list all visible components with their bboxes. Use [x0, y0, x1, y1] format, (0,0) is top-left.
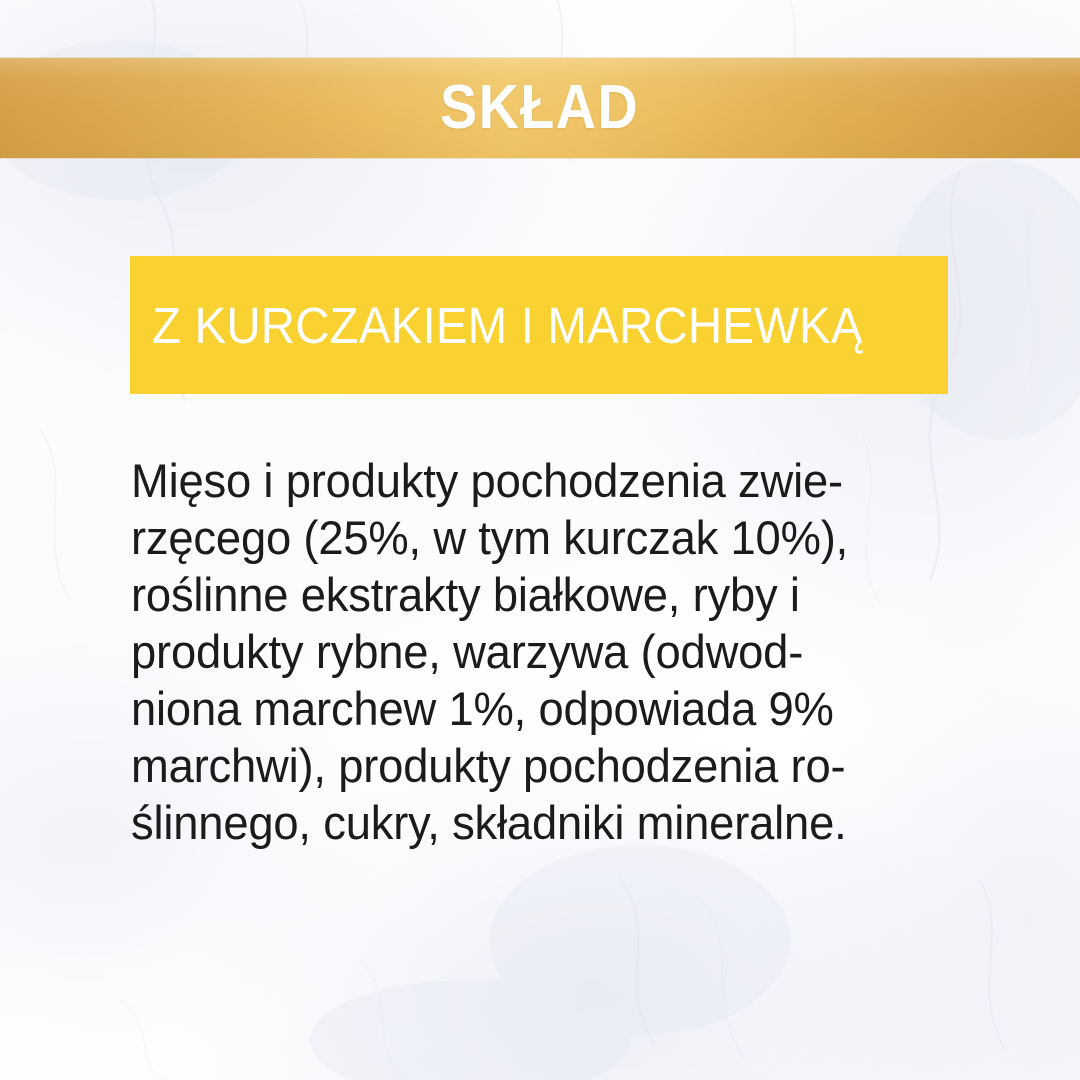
variant-title-label: Z KURCZAKIEM I MARCHEWKĄ — [152, 300, 863, 351]
section-header-banner: SKŁAD — [0, 58, 1080, 158]
ingredients-line: Mięso i produkty pochodzenia zwie- — [131, 452, 932, 509]
ingredients-line: rzęcego (25%, w tym kurczak 10%), — [131, 509, 932, 566]
variant-title-box: Z KURCZAKIEM I MARCHEWKĄ — [130, 256, 948, 394]
page-title: SKŁAD — [441, 77, 640, 139]
ingredients-line: produkty rybne, warzywa (odwod- — [131, 623, 932, 680]
ingredients-line: ślinnego, cukry, składniki mineralne. — [131, 794, 932, 851]
ingredients-line: roślinne ekstrakty białkowe, ryby i — [131, 566, 932, 623]
ingredients-line: niona marchew 1%, odpowiada 9% — [131, 680, 932, 737]
ingredients-panel: SKŁAD Z KURCZAKIEM I MARCHEWKĄ Mięso i p… — [0, 0, 1080, 1080]
ingredients-line: marchwi), produkty pochodzenia ro- — [131, 737, 932, 794]
ingredients-text-block: Mięso i produkty pochodzenia zwie- rzęce… — [131, 452, 961, 851]
